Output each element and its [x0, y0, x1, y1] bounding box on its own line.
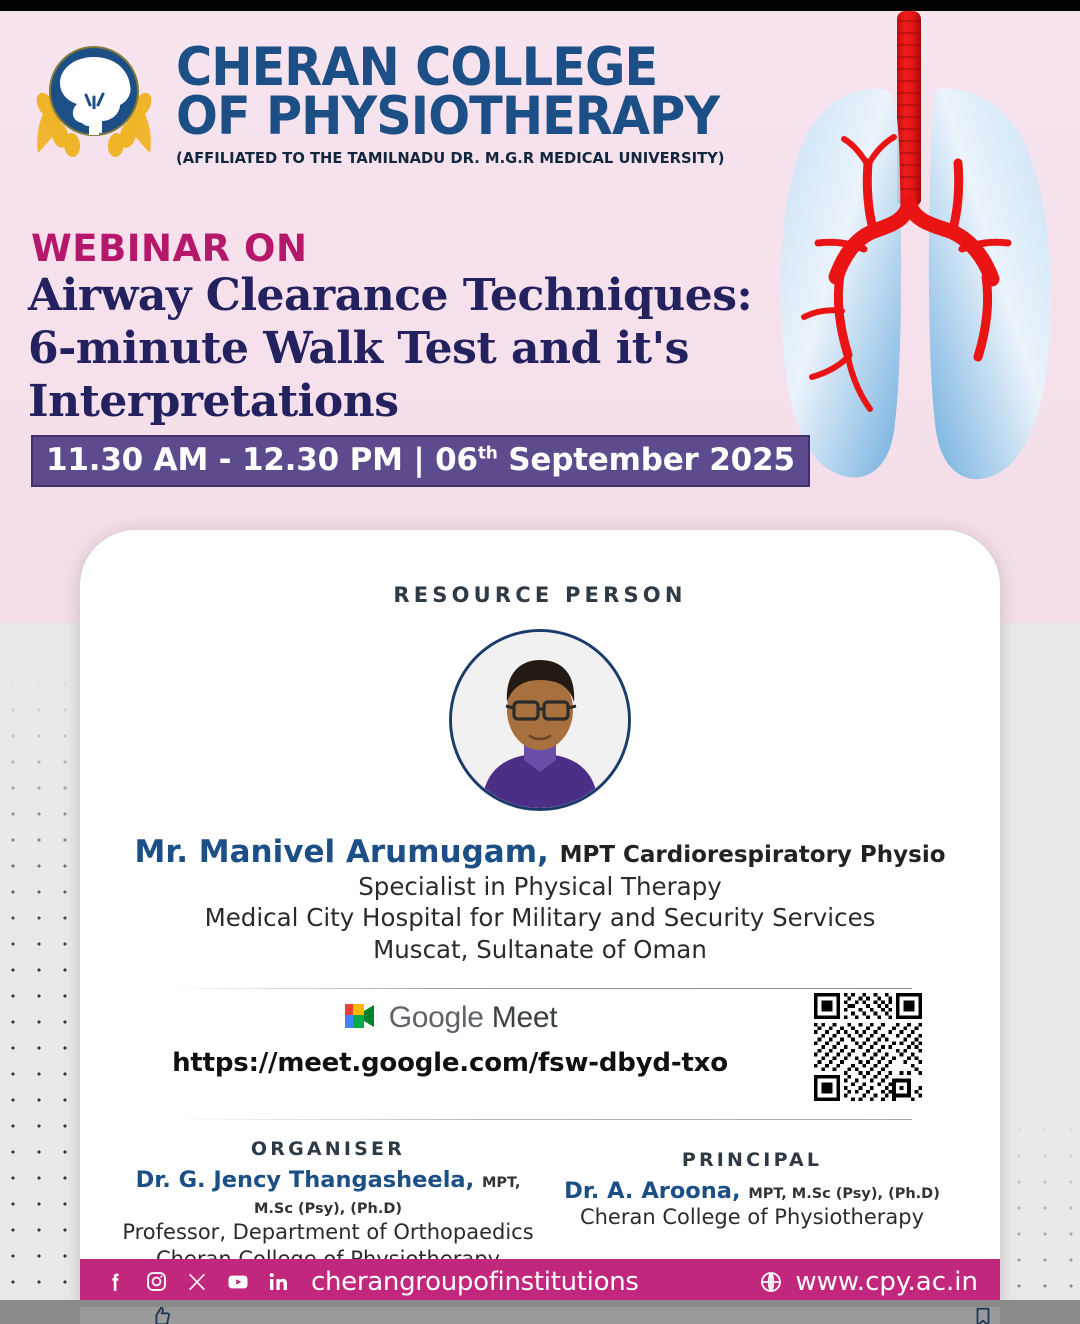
date-ordinal-suffix: th	[478, 444, 498, 464]
college-name-line2: OF PHYSIOTHERAPY	[176, 92, 719, 141]
google-meet-branding: Google Meet	[343, 1001, 558, 1035]
webinar-eyebrow: WEBINAR ON	[31, 227, 307, 270]
google-label: Google	[389, 1001, 484, 1034]
college-name-block: CHERAN COLLEGE OF PHYSIOTHERAPY (AFFILIA…	[176, 35, 760, 167]
youtube-icon[interactable]	[225, 1269, 251, 1295]
organiser-block: ORGANISER Dr. G. Jency Thangasheela, MPT…	[116, 1138, 540, 1274]
screenshot-root: CHERAN COLLEGE OF PHYSIOTHERAPY (AFFILIA…	[0, 0, 1080, 1324]
webinar-title-line2: 6-minute Walk Test and it's	[28, 322, 758, 375]
speaker-line-1: Specialist in Physical Therapy	[80, 871, 1000, 903]
speaker-details: Mr. Manivel Arumugam, MPT Cardiorespirat…	[80, 835, 1000, 966]
linkedin-icon[interactable]	[266, 1269, 292, 1295]
partial-save-icon[interactable]	[972, 1306, 994, 1324]
qr-code[interactable]	[814, 993, 922, 1101]
college-logo-icon	[30, 35, 158, 163]
divider-bottom	[168, 1119, 912, 1120]
webinar-time: 11.30 AM - 12.30 PM | 06	[46, 442, 478, 478]
principal-block: PRINCIPAL Dr. A. Aroona, MPT, M.Sc (Psy)…	[540, 1138, 964, 1274]
top-black-bar	[0, 0, 1080, 11]
resource-person-label: RESOURCE PERSON	[80, 583, 1000, 607]
facebook-icon[interactable]	[102, 1269, 128, 1295]
partial-like-icon[interactable]	[150, 1306, 172, 1324]
webinar-title-line1: Airway Clearance Techniques:	[28, 269, 758, 322]
x-twitter-icon[interactable]	[184, 1269, 210, 1295]
webinar-title-line3: Interpretations	[28, 375, 758, 428]
meeting-info: Google Meet https://meet.google.com/fsw-…	[140, 1001, 760, 1078]
social-handle[interactable]: cherangroupofinstitutions	[311, 1267, 639, 1297]
website-link[interactable]: www.cpy.ac.in	[758, 1267, 978, 1297]
principal-role-label: PRINCIPAL	[540, 1149, 964, 1171]
organiser-line-1: Professor, Department of Orthopaedics	[116, 1219, 540, 1246]
college-name-line1: CHERAN COLLEGE	[176, 43, 719, 92]
speaker-name: Mr. Manivel Arumugam,	[134, 834, 548, 870]
google-meet-icon	[343, 1002, 377, 1035]
college-branding: CHERAN COLLEGE OF PHYSIOTHERAPY (AFFILIA…	[30, 35, 760, 167]
credits-row: ORGANISER Dr. G. Jency Thangasheela, MPT…	[80, 1138, 1000, 1274]
speaker-line-3: Muscat, Sultanate of Oman	[80, 934, 1000, 966]
college-affiliation: (AFFILIATED TO THE TAMILNADU DR. M.G.R M…	[176, 149, 731, 167]
website-url[interactable]: www.cpy.ac.in	[795, 1267, 978, 1297]
principal-qualification: MPT, M.Sc (Psy), (Ph.D)	[748, 1186, 939, 1202]
webinar-date: September 2025	[498, 442, 795, 478]
organiser-name: Dr. G. Jency Thangasheela,	[136, 1167, 475, 1193]
meeting-url[interactable]: https://meet.google.com/fsw-dbyd-txo	[140, 1048, 760, 1078]
webinar-title: Airway Clearance Techniques: 6-minute Wa…	[28, 269, 758, 429]
speaker-line-2: Medical City Hospital for Military and S…	[80, 902, 1000, 934]
organiser-role-label: ORGANISER	[116, 1138, 540, 1160]
webinar-datetime-badge: 11.30 AM - 12.30 PM | 06th September 202…	[31, 435, 810, 487]
speaker-name-row: Mr. Manivel Arumugam, MPT Cardiorespirat…	[80, 835, 1000, 871]
principal-name: Dr. A. Aroona,	[564, 1178, 740, 1204]
meet-label: Meet	[492, 1001, 558, 1034]
webinar-poster: CHERAN COLLEGE OF PHYSIOTHERAPY (AFFILIA…	[0, 11, 1080, 1311]
social-links: cherangroupofinstitutions	[102, 1267, 639, 1297]
bottom-chrome-strip	[0, 1300, 1080, 1324]
globe-icon	[758, 1269, 784, 1295]
principal-line-1: Cheran College of Physiotherapy	[540, 1204, 964, 1231]
details-card: RESOURCE PERSON Mr. Mani	[80, 530, 1000, 1311]
principal-name-row: Dr. A. Aroona, MPT, M.Sc (Psy), (Ph.D)	[540, 1178, 964, 1204]
instagram-icon[interactable]	[143, 1269, 169, 1295]
speaker-avatar	[449, 629, 631, 811]
bottom-chrome-inner	[80, 1307, 1000, 1324]
meeting-section: Google Meet https://meet.google.com/fsw-…	[80, 989, 1000, 1094]
google-meet-label: Google Meet	[389, 1001, 558, 1035]
speaker-qualification: MPT Cardiorespiratory Physio	[560, 842, 946, 868]
organiser-name-row: Dr. G. Jency Thangasheela, MPT, M.Sc (Ps…	[116, 1167, 540, 1219]
